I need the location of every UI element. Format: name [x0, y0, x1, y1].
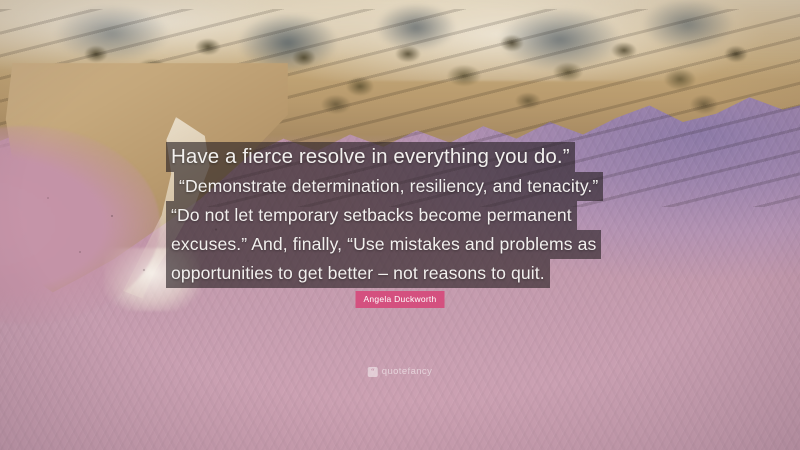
quote-line-4: excuses.” And, finally, “Use mistakes an… [166, 230, 601, 259]
quote-mark-icon: “ [368, 367, 378, 377]
quotefancy-watermark[interactable]: “ quotefancy [368, 366, 432, 377]
author-badge[interactable]: Angela Duckworth [356, 291, 445, 308]
author-name: Angela Duckworth [364, 294, 437, 304]
quote-line-1: Have a fierce resolve in everything you … [166, 142, 575, 172]
quote-text-block: Have a fierce resolve in everything you … [166, 142, 636, 288]
quote-wallpaper: Have a fierce resolve in everything you … [0, 0, 800, 450]
quote-line-5: opportunities to get better – not reason… [166, 259, 550, 288]
quote-line-2: “Demonstrate determination, resiliency, … [174, 172, 603, 201]
quote-line-3: “Do not let temporary setbacks become pe… [166, 201, 577, 230]
watermark-label: quotefancy [382, 366, 432, 377]
